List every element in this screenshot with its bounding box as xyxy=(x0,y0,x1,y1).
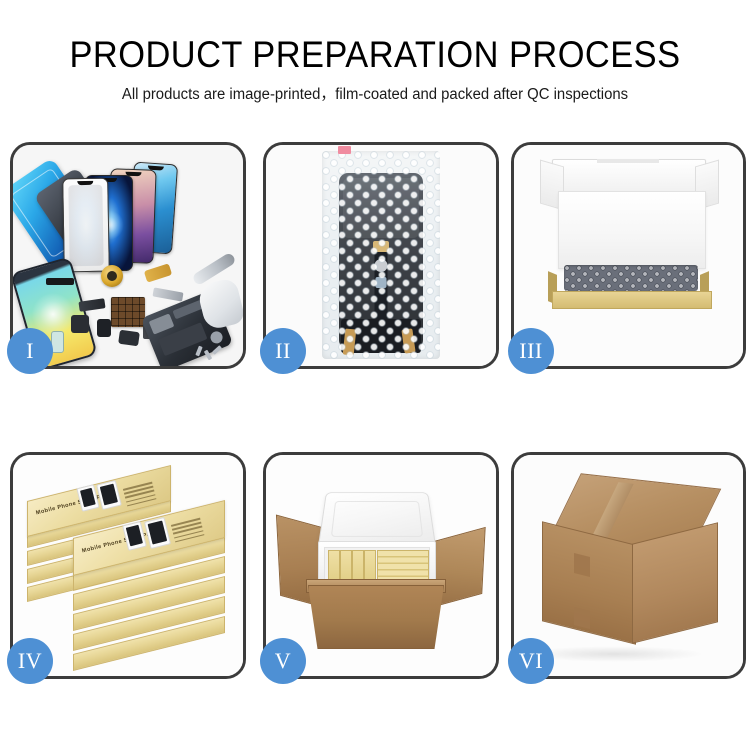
step-badge-1: I xyxy=(7,328,53,374)
speaker-part-icon xyxy=(46,278,74,285)
flex-cable-icon xyxy=(78,298,105,312)
foam-sheet-icon xyxy=(558,191,706,269)
step-panel-3[interactable]: III xyxy=(511,142,746,369)
step-panel-2[interactable]: II xyxy=(263,142,499,369)
step-4-image: Mobile Phone Spare Parts Mobile Phone Sp… xyxy=(13,455,243,676)
step-badge-6: VI xyxy=(508,638,554,684)
step-panel-6[interactable]: VI xyxy=(511,452,746,679)
connector-part-icon xyxy=(118,330,140,347)
box-lid-back-icon xyxy=(552,159,706,195)
bubble-wrap-bag xyxy=(322,151,440,359)
step-badge-5: V xyxy=(260,638,306,684)
carton-handle-tab-icon xyxy=(574,607,590,629)
connector-part-icon xyxy=(97,319,111,337)
step-3-image xyxy=(514,145,743,366)
flex-cable-icon xyxy=(152,287,183,301)
bubble-texture xyxy=(322,151,440,359)
step-badge-2: II xyxy=(260,328,306,374)
tray-front-icon xyxy=(552,291,712,309)
chip-array-icon xyxy=(111,297,145,327)
sealed-carton xyxy=(536,481,722,647)
quality-sticker-icon xyxy=(338,146,351,154)
notch-icon xyxy=(77,181,93,185)
vibrator-coil-icon xyxy=(101,265,123,287)
camera-module-icon xyxy=(71,315,89,333)
step-panel-5[interactable]: V xyxy=(263,452,499,679)
flex-cable-icon xyxy=(144,263,172,282)
product-preparation-page: PRODUCT PREPARATION PROCESS All products… xyxy=(0,0,750,750)
bubble-wrap-roll-icon xyxy=(564,265,698,291)
step-5-image xyxy=(266,455,496,676)
step-panel-1[interactable]: I xyxy=(10,142,246,369)
step-1-image xyxy=(13,145,243,366)
step-badge-4: IV xyxy=(7,638,53,684)
process-step-grid: I II xyxy=(0,0,750,750)
step-2-image xyxy=(266,145,496,366)
retail-box-stack: Mobile Phone Spare Parts Mobile Phone Sp… xyxy=(21,471,229,661)
step-panel-4[interactable]: Mobile Phone Spare Parts Mobile Phone Sp… xyxy=(10,452,246,679)
carton-handle-tab-icon xyxy=(574,553,590,577)
screws-icon xyxy=(195,344,225,362)
phone-glass-panel xyxy=(62,178,110,273)
carton-body-icon xyxy=(308,585,444,649)
step-badge-3: III xyxy=(508,328,554,374)
carton-side-icon xyxy=(632,522,718,643)
step-6-image xyxy=(514,455,743,676)
